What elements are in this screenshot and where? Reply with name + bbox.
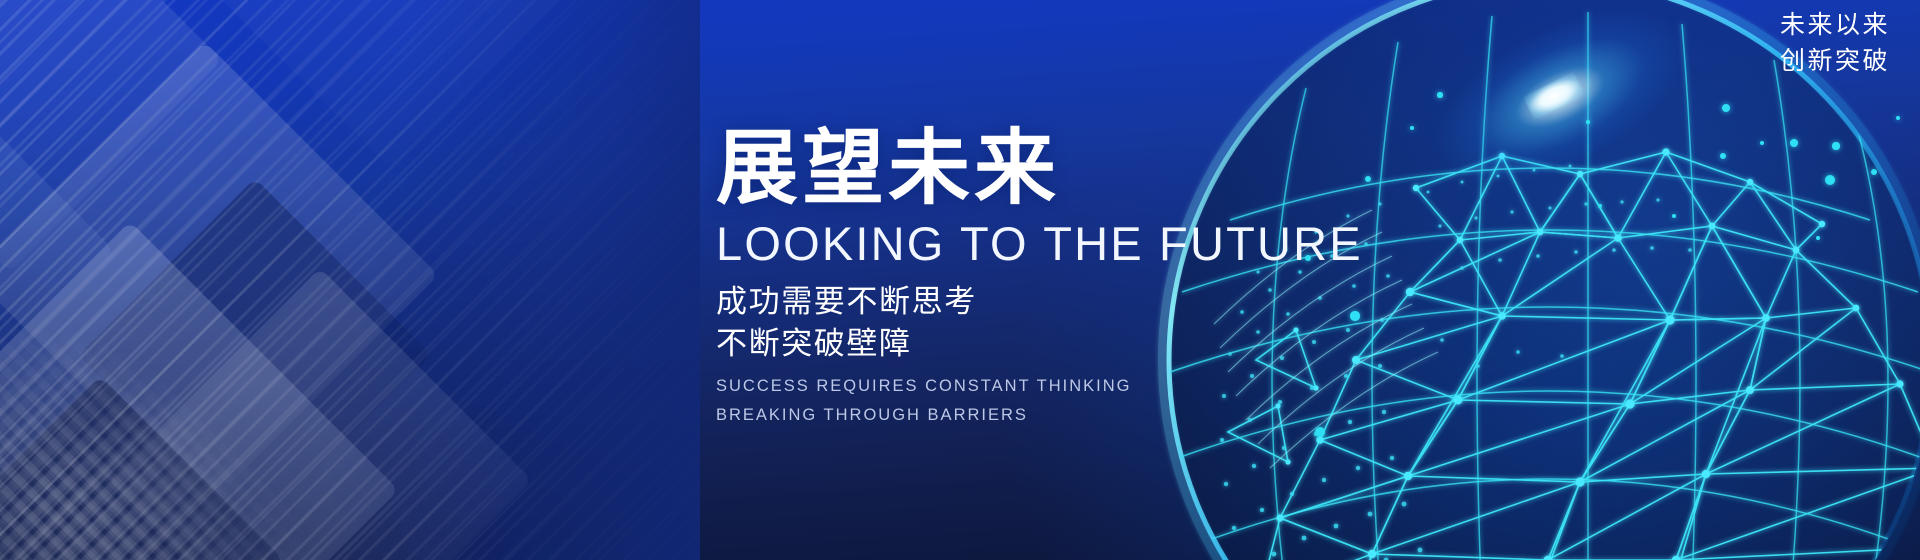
particle-dot xyxy=(1598,204,1602,208)
headline-block: 展望未来 LOOKING TO THE FUTURE 成功需要不断思考 不断突破… xyxy=(716,128,1476,428)
decorative-diamond xyxy=(0,0,222,272)
tagline-cn-line-2: 不断突破壁障 xyxy=(716,323,1476,364)
dot-grid-pattern xyxy=(0,259,369,560)
banner-root: 展望未来 LOOKING TO THE FUTURE 成功需要不断思考 不断突破… xyxy=(0,0,1920,560)
particle-dot xyxy=(1720,153,1726,159)
corner-tag: 未来以来 创新突破 xyxy=(1780,8,1890,79)
decorative-diamond xyxy=(0,221,399,560)
left-art-fade-overlay xyxy=(0,0,700,560)
decorative-diamond-dark xyxy=(78,178,432,532)
decorative-diamond xyxy=(0,66,114,434)
particle-dot xyxy=(1825,175,1835,185)
particle-dot xyxy=(1760,141,1764,145)
corner-tag-line-2: 创新突破 xyxy=(1780,44,1890,80)
decorative-diamond xyxy=(192,0,588,168)
decorative-diamond xyxy=(108,268,532,560)
particle-dot xyxy=(1586,120,1590,124)
decorative-diamond-dark xyxy=(0,376,284,560)
page-title: 展望未来 xyxy=(716,128,1476,210)
tagline-en-line-2: BREAKING THROUGH BARRIERS xyxy=(716,402,1476,429)
particle-dot xyxy=(1816,236,1820,240)
particle-dot xyxy=(1871,169,1878,176)
diagonal-stripe-lines xyxy=(0,0,700,560)
corner-tag-line-1: 未来以来 xyxy=(1780,8,1890,44)
particle-dot xyxy=(1722,104,1730,112)
particle-dot xyxy=(1672,214,1676,218)
tagline-cn-line-1: 成功需要不断思考 xyxy=(716,281,1476,322)
lens-flare-core xyxy=(1523,72,1585,121)
particle-dot xyxy=(1437,92,1442,97)
diagonal-geometric-pattern xyxy=(0,0,700,560)
particle-dot xyxy=(1790,139,1798,147)
tagline-en-line-1: SUCCESS REQUIRES CONSTANT THINKING xyxy=(716,373,1476,400)
decorative-diamond xyxy=(0,42,438,509)
particle-dot xyxy=(1896,116,1901,121)
dot-grid-pattern xyxy=(0,346,381,560)
diagonal-stripe-lines xyxy=(0,0,700,560)
particle-dot xyxy=(1832,142,1839,149)
page-subtitle-english: LOOKING TO THE FUTURE xyxy=(716,216,1476,271)
